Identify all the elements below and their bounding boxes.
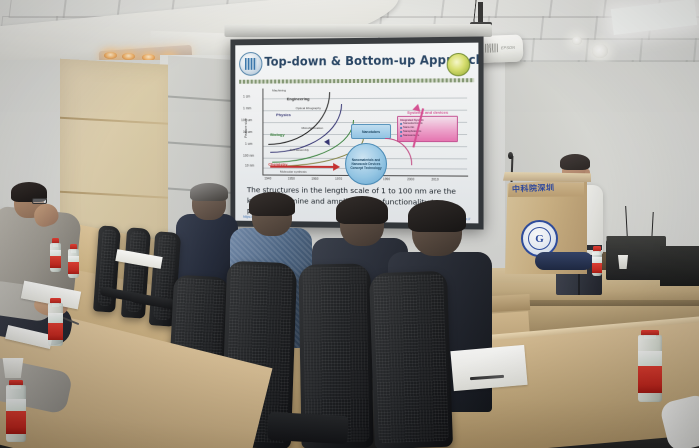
chart-label-chemistry: Chemistry xyxy=(268,162,287,167)
attendee-5-hair xyxy=(336,196,388,224)
chart-sublabel-2: Microfabrication xyxy=(302,126,324,130)
chart-y-axis-label: Feature size xyxy=(244,118,248,138)
chart-xtick-6: 2000 xyxy=(407,177,414,181)
chair-back-7[interactable] xyxy=(369,271,453,448)
ceiling-tile xyxy=(639,38,697,62)
ceiling-tile xyxy=(693,38,699,62)
chart-xtick-2: 1960 xyxy=(311,177,318,181)
slide-title-divider xyxy=(239,78,474,84)
warm-spotlight-1 xyxy=(104,52,117,59)
water-bottle-left-4[interactable] xyxy=(6,380,26,442)
attendee-4-hair xyxy=(249,192,295,216)
chart-xtick-1: 1950 xyxy=(288,177,295,181)
chart-systems-label: Systems and devices xyxy=(407,110,448,116)
conference-room-photo: EPSON Top-down & Bottom-up Approaches xyxy=(0,0,699,448)
lectern-top-surface xyxy=(503,172,591,182)
lectern-seal-letter: G xyxy=(528,227,551,250)
chart-ytick-5: 100 nm xyxy=(243,154,254,158)
av-equipment-rack xyxy=(606,236,666,280)
chart-sublabel-3: Self-assembly xyxy=(290,148,309,152)
chart-sublabel-1: Optical lithography xyxy=(296,106,321,110)
chart-label-physics: Physics xyxy=(276,112,291,117)
chart-label-biology: Biology xyxy=(270,132,284,137)
notepad-right xyxy=(450,345,527,391)
chart-ytick-6: 10 nm xyxy=(245,164,254,168)
attendee-3-hair xyxy=(190,183,228,201)
chart-arrow-bottomup-head xyxy=(333,163,340,171)
chart-callout-blue-circle: Nanomaterials and Nanoscale Devices Conc… xyxy=(345,143,387,185)
chart-sublabel-0: Machining xyxy=(272,88,286,92)
chart-xtick-3: 1970 xyxy=(335,177,342,181)
ceiling-downlight-right xyxy=(592,44,608,58)
podium-microphone-head xyxy=(508,152,513,159)
chart-ytick-1: 1 mm xyxy=(243,106,251,110)
water-bottle-right[interactable] xyxy=(638,330,662,402)
chart-sublabel-4: Molecular synthesis xyxy=(280,170,307,174)
lectern-chinese-text: 中科院深圳 xyxy=(512,182,555,195)
institution-logo-right-icon xyxy=(447,53,471,76)
chart-callout-pink-box: Integrated System Nanoelectronics Nano-b… xyxy=(397,116,458,142)
attendee-6-hair xyxy=(408,200,466,232)
slide-title: Top-down & Bottom-up Approaches xyxy=(264,52,430,68)
chart-xtick-0: 1940 xyxy=(264,177,271,181)
presenter-bag xyxy=(535,252,593,270)
chart-callout-blue-box: Nanotubes xyxy=(351,124,391,139)
presenter-hair xyxy=(560,154,590,170)
chair-seat-2[interactable] xyxy=(267,412,348,444)
water-bottle-left-1[interactable] xyxy=(50,238,61,272)
slide-chart: 1 cm 1 mm 100 um 10 um 1 um 100 nm 10 nm… xyxy=(241,85,472,184)
av-equipment-rack-2 xyxy=(660,246,699,286)
institution-logo-left-icon xyxy=(239,52,262,76)
chart-xtick-5: 1990 xyxy=(383,177,390,181)
chart-ytick-0: 1 cm xyxy=(243,95,250,99)
projector-brand-label: EPSON xyxy=(501,45,515,50)
chart-ytick-4: 1 um xyxy=(245,142,252,146)
chart-label-engineering: Engineering xyxy=(287,96,310,101)
chart-connector-curve xyxy=(385,138,412,165)
chart-xtick-7: 2010 xyxy=(431,177,438,181)
pink-box-bullet-3: Nanosensors xyxy=(400,134,455,138)
projector-vent xyxy=(485,43,498,52)
chart-y-axis xyxy=(262,89,263,176)
water-bottle-left-2[interactable] xyxy=(68,244,79,278)
water-bottle-left-3[interactable] xyxy=(48,298,63,346)
water-bottle-stage xyxy=(592,246,602,276)
screen-housing xyxy=(225,24,492,37)
warm-spotlight-2 xyxy=(122,53,135,60)
slide-title-bar: Top-down & Bottom-up Approaches xyxy=(235,45,478,81)
ceiling-downlight-right2 xyxy=(572,36,582,45)
ceiling-tile xyxy=(540,16,598,40)
